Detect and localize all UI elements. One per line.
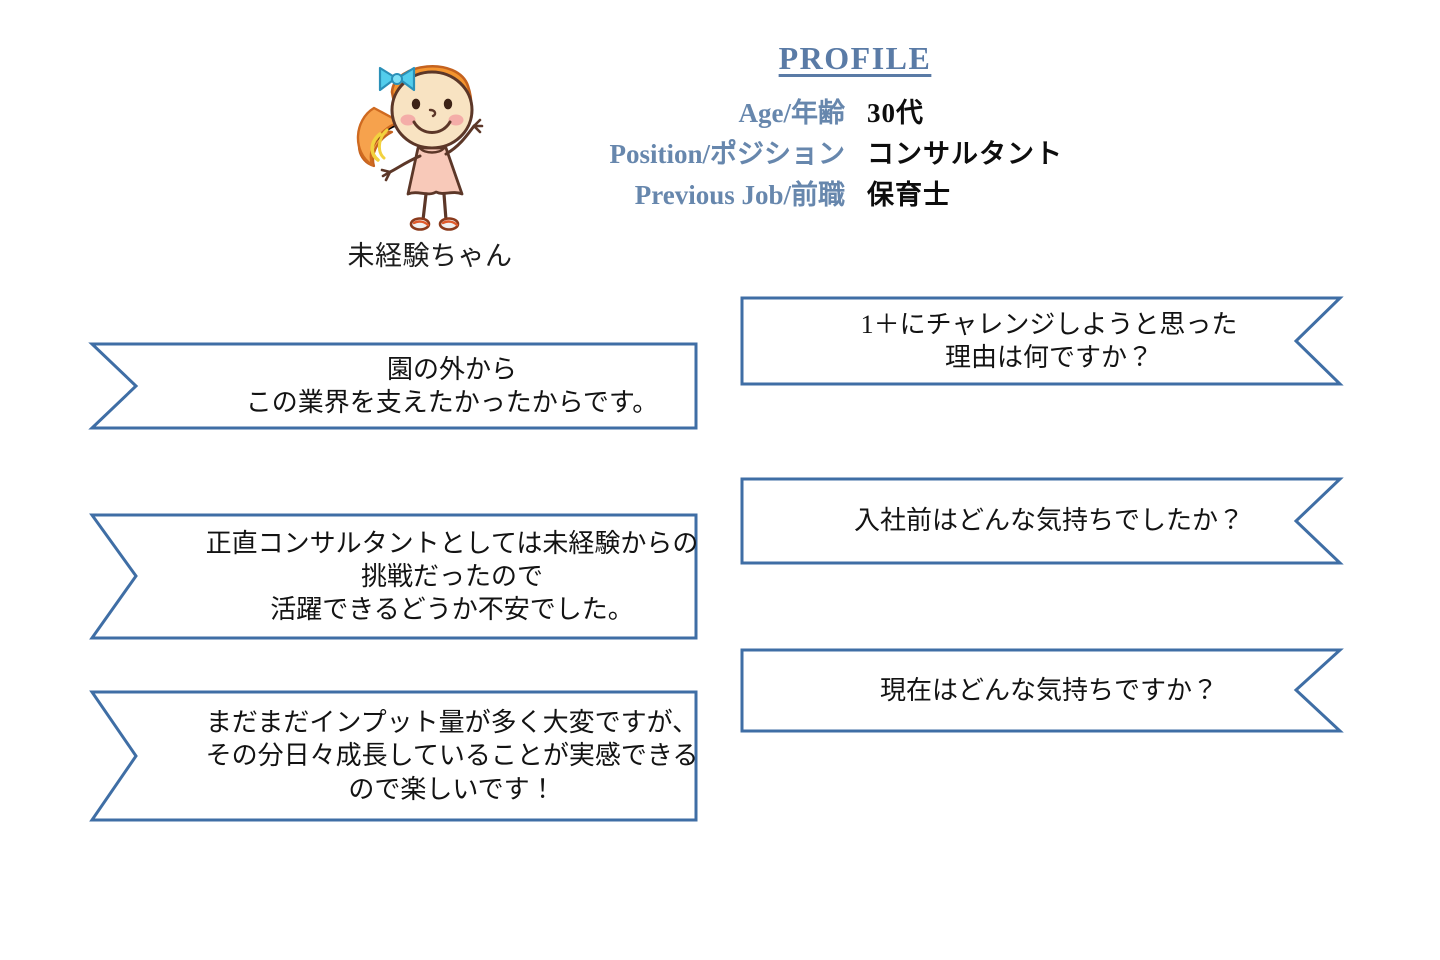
answer-banner-1: 園の外から この業界を支えたかったからです。 <box>90 342 698 430</box>
question-banner-3-text: 現在はどんな気持ちですか？ <box>740 648 1408 733</box>
profile-row-age: Age/年齢 30代 <box>545 91 1165 130</box>
profile-row-position: Position/ポジション コンサルタント <box>545 132 1165 171</box>
profile-value-age: 30代 <box>867 91 924 130</box>
profile-label-age: Age/年齢 <box>545 91 867 130</box>
question-banner-2-text: 入社前はどんな気持ちでしたか？ <box>740 477 1408 565</box>
profile-value-previous-job: 保育士 <box>867 173 951 212</box>
profile-row-previous-job: Previous Job/前職 保育士 <box>545 173 1165 212</box>
profile-label-position: Position/ポジション <box>545 132 867 171</box>
profile-value-position: コンサルタント <box>867 132 1063 171</box>
question-banner-1: 1＋にチャレンジしようと思った 理由は何ですか？ <box>740 296 1342 386</box>
answer-banner-3-text: まだまだインプット量が多く大変ですが、 その分日々成長していることが実感できる … <box>90 690 764 822</box>
profile-title: PROFILE <box>545 40 1165 77</box>
answer-banner-2: 正直コンサルタントとしては未経験からの 挑戦だったので 活躍できるどうか不安でし… <box>90 513 698 640</box>
girl-character-illustration <box>340 34 520 234</box>
profile-label-previous-job: Previous Job/前職 <box>545 173 867 212</box>
answer-banner-2-text: 正直コンサルタントとしては未経験からの 挑戦だったので 活躍できるどうか不安でし… <box>90 513 764 640</box>
question-banner-1-text: 1＋にチャレンジしようと思った 理由は何ですか？ <box>740 296 1408 386</box>
character-name-label: 未経験ちゃん <box>330 234 530 273</box>
question-banner-2: 入社前はどんな気持ちでしたか？ <box>740 477 1342 565</box>
profile-panel: PROFILE Age/年齢 30代 Position/ポジション コンサルタン… <box>545 40 1165 214</box>
answer-banner-1-text: 園の外から この業界を支えたかったからです。 <box>90 342 764 430</box>
answer-banner-3: まだまだインプット量が多く大変ですが、 その分日々成長していることが実感できる … <box>90 690 698 822</box>
question-banner-3: 現在はどんな気持ちですか？ <box>740 648 1342 733</box>
character-block: 未経験ちゃん <box>330 34 530 274</box>
